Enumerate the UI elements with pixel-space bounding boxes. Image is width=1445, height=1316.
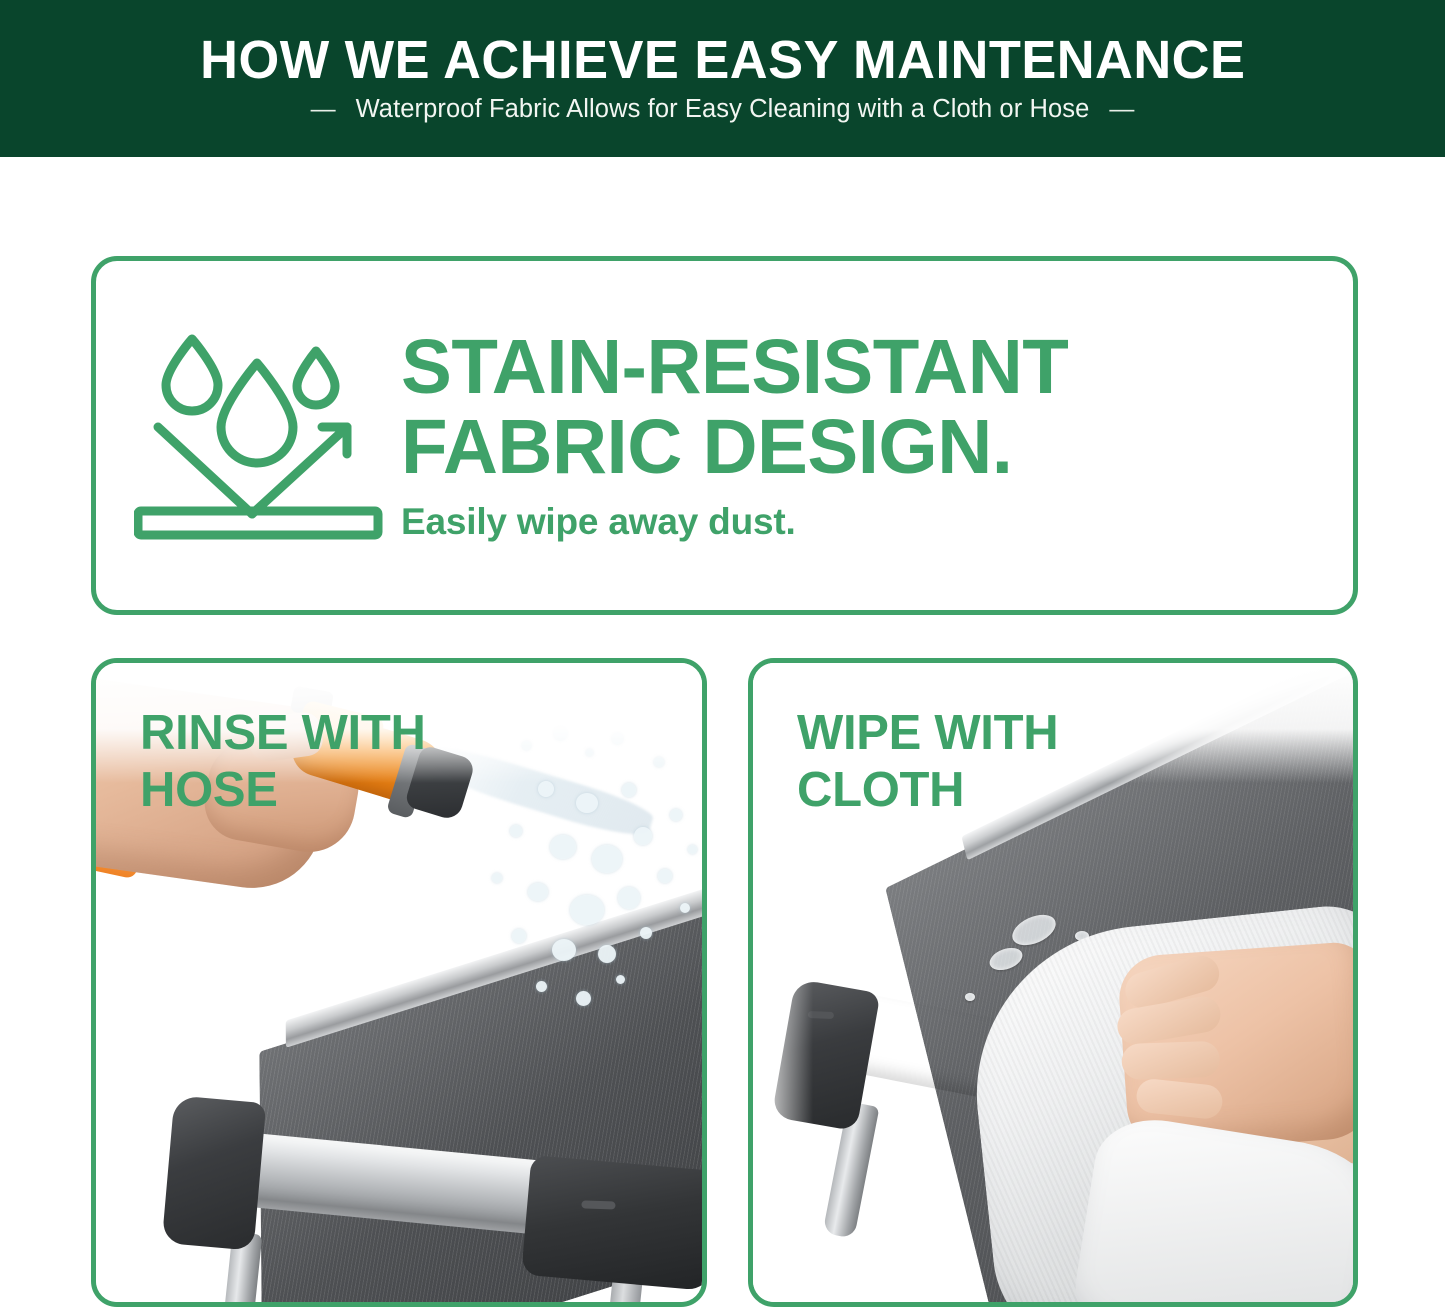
hero-title-line1: STAIN-RESISTANT xyxy=(401,328,1314,407)
rinse-with-hose-card: RINSE WITH HOSE xyxy=(91,658,707,1307)
page-subtitle: Waterproof Fabric Allows for Easy Cleani… xyxy=(356,95,1090,124)
hero-subtitle: Easily wipe away dust. xyxy=(401,501,1323,543)
rinse-photo xyxy=(96,663,702,1302)
infographic-page: HOW WE ACHIEVE EASY MAINTENANCE — Waterp… xyxy=(0,0,1445,1316)
dash-left-decoration: — xyxy=(311,97,336,122)
hero-icon-container xyxy=(96,321,401,551)
stain-resistant-card: STAIN-RESISTANT FABRIC DESIGN. Easily wi… xyxy=(91,256,1358,615)
header-banner: HOW WE ACHIEVE EASY MAINTENANCE — Waterp… xyxy=(0,0,1445,157)
dash-right-decoration: — xyxy=(1109,97,1134,122)
water-bead xyxy=(965,993,975,1001)
photo-fade-left xyxy=(753,663,813,1302)
water-repellent-icon xyxy=(134,321,384,551)
surface-bar-icon xyxy=(138,511,378,535)
wipe-with-cloth-card: WIPE WITH CLOTH xyxy=(748,658,1358,1307)
cot-corner-cap-right xyxy=(521,1155,702,1291)
finger xyxy=(1121,1041,1220,1080)
wipe-photo xyxy=(753,663,1353,1302)
header-subtitle-row: — Waterproof Fabric Allows for Easy Clea… xyxy=(311,95,1135,124)
hero-title-line2: FABRIC DESIGN. xyxy=(401,408,1314,487)
finger xyxy=(1135,1078,1224,1121)
page-title: HOW WE ACHIEVE EASY MAINTENANCE xyxy=(200,33,1245,87)
hero-text-container: STAIN-RESISTANT FABRIC DESIGN. Easily wi… xyxy=(401,328,1353,543)
cot-corner-cap-left xyxy=(162,1095,267,1250)
